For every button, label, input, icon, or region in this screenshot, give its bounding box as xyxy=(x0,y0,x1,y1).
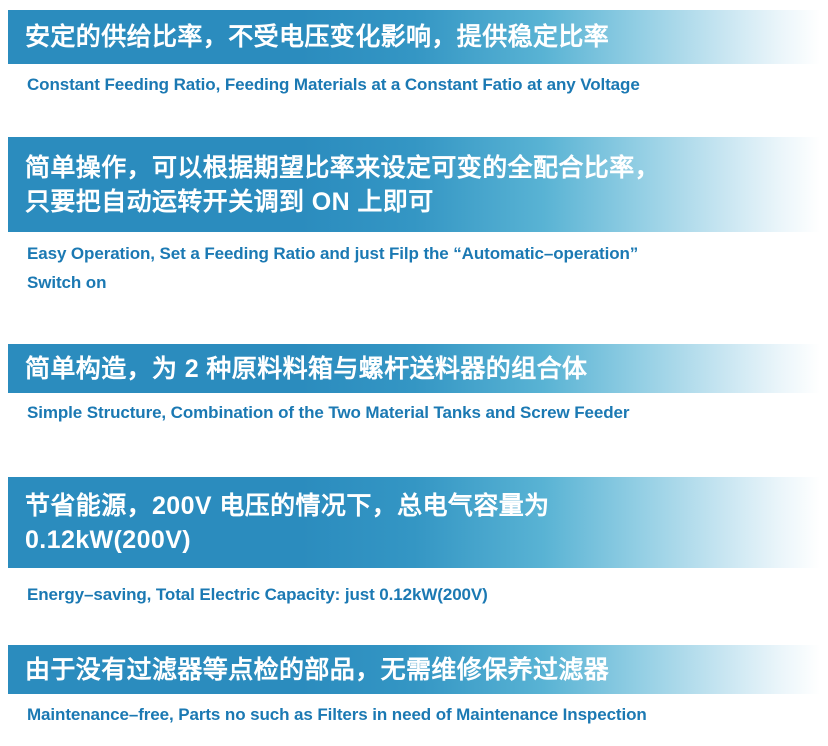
feature-caption: Easy Operation, Set a Feeding Ratio and … xyxy=(8,239,820,297)
feature-headline-banner: 节省能源，200V 电压的情况下，总电气容量为 0.12kW(200V) xyxy=(8,477,820,568)
headline-line: 由于没有过滤器等点检的部品，无需维修保养过滤器 xyxy=(25,653,820,687)
feature-headline-banner: 由于没有过滤器等点检的部品，无需维修保养过滤器 xyxy=(8,645,820,694)
feature-caption: Simple Structure, Combination of the Two… xyxy=(8,398,820,427)
feature-caption: Energy–saving, Total Electric Capacity: … xyxy=(8,580,820,609)
headline-line: 简单操作，可以根据期望比率来设定可变的全配合比率， xyxy=(25,151,820,185)
feature-block: 由于没有过滤器等点检的部品，无需维修保养过滤器 Maintenance–free… xyxy=(0,635,828,729)
feature-headline-banner: 简单构造，为 2 种原料料箱与螺杆送料器的组合体 xyxy=(8,344,820,393)
headline-line: 简单构造，为 2 种原料料箱与螺杆送料器的组合体 xyxy=(25,352,820,386)
feature-caption: Maintenance–free, Parts no such as Filte… xyxy=(8,700,820,729)
headline-line: 只要把自动运转开关调到 ON 上即可 xyxy=(25,185,820,219)
feature-headline-banner: 简单操作，可以根据期望比率来设定可变的全配合比率， 只要把自动运转开关调到 ON… xyxy=(8,137,820,232)
headline-line: 节省能源，200V 电压的情况下，总电气容量为 xyxy=(25,489,820,523)
caption-line: Easy Operation, Set a Feeding Ratio and … xyxy=(27,239,820,268)
caption-line: Simple Structure, Combination of the Two… xyxy=(27,398,820,427)
caption-line: Maintenance–free, Parts no such as Filte… xyxy=(27,700,820,729)
caption-line: Energy–saving, Total Electric Capacity: … xyxy=(27,580,820,609)
headline-line: 安定的供给比率，不受电压变化影响，提供稳定比率 xyxy=(25,20,820,54)
feature-caption: Constant Feeding Ratio, Feeding Material… xyxy=(8,70,820,99)
caption-line: Switch on xyxy=(27,268,820,297)
feature-list: 安定的供给比率，不受电压变化影响，提供稳定比率 Constant Feeding… xyxy=(0,0,828,746)
headline-line: 0.12kW(200V) xyxy=(25,523,820,557)
feature-block: 简单构造，为 2 种原料料箱与螺杆送料器的组合体 Simple Structur… xyxy=(0,334,828,427)
feature-block: 简单操作，可以根据期望比率来设定可变的全配合比率， 只要把自动运转开关调到 ON… xyxy=(0,127,828,297)
feature-headline-banner: 安定的供给比率，不受电压变化影响，提供稳定比率 xyxy=(8,10,820,64)
caption-line: Constant Feeding Ratio, Feeding Material… xyxy=(27,70,820,99)
feature-block: 节省能源，200V 电压的情况下，总电气容量为 0.12kW(200V) Ene… xyxy=(0,467,828,609)
feature-block: 安定的供给比率，不受电压变化影响，提供稳定比率 Constant Feeding… xyxy=(0,0,828,99)
